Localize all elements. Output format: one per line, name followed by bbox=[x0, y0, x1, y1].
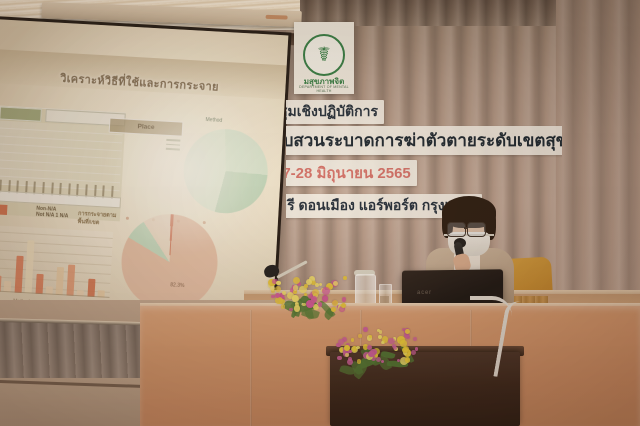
slide-bar bbox=[25, 240, 35, 293]
glasses-bridge bbox=[464, 227, 468, 229]
slide-bar bbox=[56, 267, 65, 295]
banner-line-1: ชุมเชิงปฏิบัติการ bbox=[286, 100, 384, 124]
flower-bloom bbox=[323, 296, 328, 301]
flower-bloom bbox=[400, 340, 406, 346]
flower-bloom bbox=[338, 339, 344, 345]
flower-bloom bbox=[275, 286, 281, 292]
slide-pie-chart-green bbox=[181, 127, 270, 216]
flower-bloom bbox=[333, 281, 338, 286]
flower-bloom bbox=[411, 350, 416, 355]
flower-bloom bbox=[311, 296, 317, 302]
slide-bar-chart: Method bbox=[0, 225, 113, 310]
caduceus-icon: ☤ bbox=[303, 34, 345, 76]
slide-pie-salmon-caption: การกระจายตาม พื้นที่/เขต bbox=[77, 210, 116, 228]
flower-bloom bbox=[341, 303, 346, 308]
organization-logo-card: ☤ มสุขภาพจิต DEPARTMENT OF MENTAL HEALTH bbox=[294, 22, 354, 94]
slide-pie-chart-salmon bbox=[119, 212, 220, 313]
flower-arrangement-podium bbox=[336, 326, 418, 366]
flower-bloom bbox=[293, 285, 299, 291]
flower-bloom bbox=[292, 295, 298, 301]
slide-pie-salmon-value: 82.3% bbox=[170, 282, 185, 289]
flower-bloom bbox=[381, 341, 384, 344]
flower-bloom bbox=[340, 348, 344, 352]
banner-date-line: 27-28 มิถุนายน 2565 bbox=[286, 160, 417, 186]
slide-legend-line2: Not N/A 1 N/A bbox=[36, 212, 69, 219]
slide-data-table: Non-N/A Not N/A 1 N/A bbox=[0, 105, 126, 221]
slide-table-header-left bbox=[0, 106, 42, 121]
flower-bloom bbox=[363, 327, 368, 332]
flower-bloom bbox=[358, 334, 361, 337]
slide-bar bbox=[87, 279, 95, 297]
flower-bloom bbox=[312, 289, 319, 296]
flower-bloom bbox=[413, 337, 417, 341]
slide-place-label: Place bbox=[110, 119, 183, 136]
conference-photo: วิเคราะห์วิธีที่ใช้และการกระจาย Non-N/A … bbox=[0, 0, 640, 426]
presentation-slide: วิเคราะห์วิธีที่ใช้และการกระจาย Non-N/A … bbox=[0, 19, 288, 325]
flower-bloom bbox=[276, 281, 280, 285]
flower-bloom bbox=[368, 351, 375, 358]
flower-arrangement-table bbox=[268, 276, 352, 312]
slide-legend-text: Non-N/A Not N/A 1 N/A bbox=[36, 207, 69, 220]
glasses-left-lens bbox=[447, 222, 466, 237]
flower-bloom bbox=[319, 283, 323, 287]
slide-legend-swatch bbox=[0, 204, 7, 215]
flower-bloom bbox=[304, 284, 308, 288]
flower-bloom bbox=[293, 277, 300, 284]
slide-bar bbox=[0, 276, 1, 292]
flower-bloom bbox=[322, 287, 330, 295]
flower-bloom bbox=[343, 276, 347, 280]
flower-bloom bbox=[405, 329, 410, 334]
flower-bloom bbox=[281, 304, 286, 309]
housing-brand-mark bbox=[266, 15, 288, 20]
banner-line-2: สอบสวนระบาดการฆ่าตัวตายระดับเขตสุขภาพ bbox=[286, 126, 562, 155]
flower-bloom bbox=[270, 286, 275, 291]
flower-bloom bbox=[379, 330, 383, 334]
tablecloth-fold bbox=[250, 310, 252, 426]
slide-bar bbox=[35, 273, 43, 294]
flower-bloom bbox=[357, 359, 362, 364]
flower-bloom bbox=[356, 346, 359, 349]
flower-bloom bbox=[351, 338, 355, 342]
slide-bar bbox=[66, 264, 75, 296]
organization-logo-sub: DEPARTMENT OF MENTAL HEALTH bbox=[294, 85, 354, 93]
flower-bloom bbox=[318, 302, 322, 306]
flower-bloom bbox=[337, 356, 341, 360]
flower-bloom bbox=[306, 279, 312, 285]
caduceus-glyph: ☤ bbox=[317, 45, 330, 65]
projection-screen-surface: วิเคราะห์วิธีที่ใช้และการกระจาย Non-N/A … bbox=[0, 19, 288, 325]
flower-bloom bbox=[388, 338, 394, 344]
laptop-brand-logo: acer bbox=[417, 290, 432, 296]
flower-bloom bbox=[331, 307, 336, 312]
slide-pie-green-label: Method bbox=[205, 117, 222, 124]
flower-bloom bbox=[392, 344, 396, 348]
flower-bloom bbox=[344, 345, 350, 351]
flower-bloom bbox=[342, 297, 347, 302]
glasses-right-lens bbox=[467, 222, 486, 237]
flower-bloom bbox=[315, 283, 319, 287]
flower-bloom bbox=[397, 359, 400, 362]
flower-bloom bbox=[294, 305, 300, 311]
slide-pie-green-legend bbox=[166, 139, 181, 154]
projection-screen: วิเคราะห์วิธีที่ใช้และการกระจาย Non-N/A … bbox=[0, 16, 292, 328]
flower-bloom bbox=[282, 291, 286, 295]
